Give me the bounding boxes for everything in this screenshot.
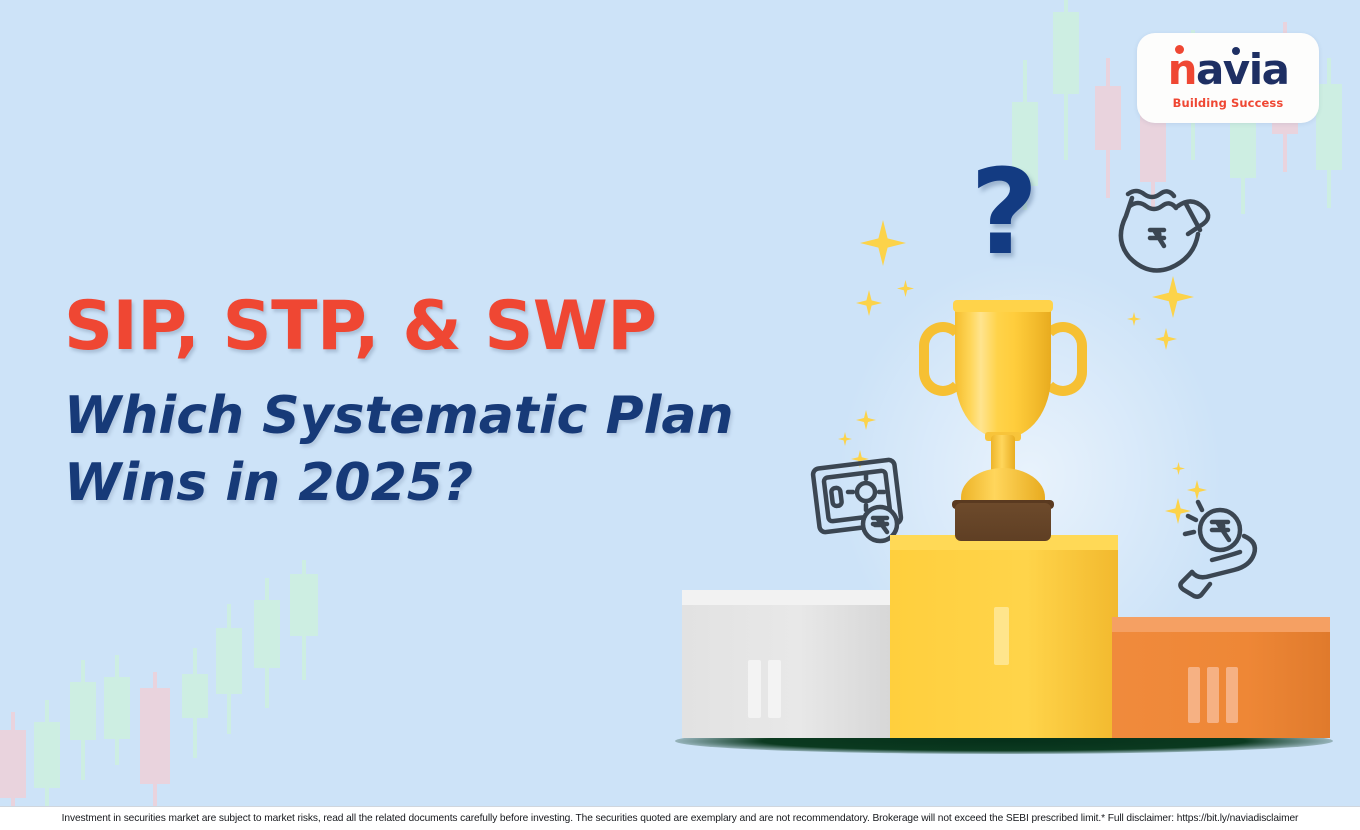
podium-rank-numeral-3 — [1188, 667, 1238, 723]
money-bag-rupee-icon — [1108, 182, 1212, 283]
candlestick-bullish — [254, 578, 280, 708]
candlestick-bullish — [104, 655, 130, 765]
candlestick-bearish — [140, 672, 170, 806]
candlestick-bearish — [0, 712, 26, 806]
logo-dot-navy-icon — [1232, 47, 1240, 55]
candlestick-bullish — [70, 660, 96, 780]
candlestick-bullish — [182, 648, 208, 758]
candlestick-bullish — [1053, 0, 1079, 160]
question-mark-icon: ? — [970, 165, 1038, 259]
hand-holding-rupee-coin-icon — [1172, 498, 1284, 609]
trophy-base — [955, 503, 1051, 541]
podium-block-bronze — [1112, 617, 1330, 738]
trophy-cup — [955, 300, 1051, 438]
logo-dot-orange-icon — [1175, 45, 1184, 54]
disclaimer-text: Investment in securities market are subj… — [62, 813, 1299, 824]
candlestick-bullish — [216, 604, 242, 734]
candlestick-bullish — [290, 560, 318, 680]
podium-block-gold — [890, 535, 1118, 738]
podium-block-silver — [682, 590, 894, 738]
gold-trophy-icon — [903, 300, 1103, 555]
disclaimer-bar: Investment in securities market are subj… — [0, 806, 1360, 830]
navia-logo[interactable]: navia Building Success — [1137, 33, 1319, 123]
logo-letters-avia: avia — [1196, 45, 1288, 94]
logo-wordmark: navia — [1168, 49, 1289, 91]
promotional-banner: SIP, STP, & SWP Which Systematic Plan Wi… — [0, 0, 1360, 806]
candlestick-bullish — [34, 700, 60, 806]
logo-tagline: Building Success — [1173, 96, 1284, 110]
podium-rank-numeral-2 — [748, 660, 781, 718]
trophy-rim — [953, 300, 1053, 312]
podium-rank-numeral-1 — [994, 607, 1009, 665]
trophy-podium-artwork: ? — [660, 150, 1360, 770]
